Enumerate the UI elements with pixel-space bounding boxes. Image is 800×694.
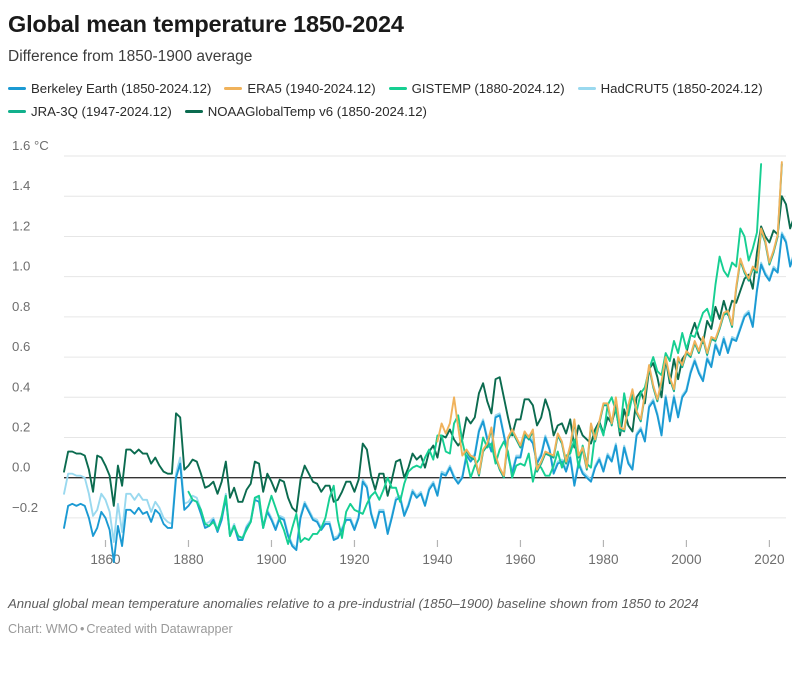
x-axis-tick-label: 2020	[754, 552, 785, 567]
legend-swatch-icon	[185, 110, 203, 113]
legend-swatch-icon	[578, 87, 596, 90]
y-axis-tick-label: 0.0	[12, 459, 30, 474]
legend-item-label: JRA-3Q (1947-2024.12)	[31, 104, 172, 119]
chart-subtitle: Difference from 1850-1900 average	[8, 39, 792, 67]
y-axis-tick-label: 0.6	[12, 339, 30, 354]
y-axis-tick-label: 0.4	[12, 379, 30, 394]
y-axis-tick-label: 0.8	[12, 299, 30, 314]
y-axis-tick-label: −0.2	[12, 500, 38, 515]
source-credit: Chart: WMO	[8, 622, 78, 636]
series-line-era5[interactable]	[437, 162, 781, 476]
y-axis-tick-label: 1.2	[12, 218, 30, 233]
x-axis-tick-label: 1860	[90, 552, 121, 567]
series-line-noaaglobaltemp-v6[interactable]	[64, 170, 792, 512]
y-axis-tick-label: 0.2	[12, 419, 30, 434]
legend-swatch-icon	[8, 110, 26, 113]
chart-page: Global mean temperature 1850-2024 Differ…	[0, 0, 800, 694]
legend-swatch-icon	[8, 87, 26, 90]
legend-item-era5[interactable]: ERA5 (1940-2024.12)	[224, 81, 375, 96]
legend-item-noaaglobaltemp-v6[interactable]: NOAAGlobalTemp v6 (1850-2024.12)	[185, 104, 427, 119]
x-axis-tick-label: 1980	[588, 552, 619, 567]
legend-item-label: GISTEMP (1880-2024.12)	[412, 81, 565, 96]
chart-footnote: Annual global mean temperature anomalies…	[8, 585, 783, 614]
x-axis-tick-label: 1960	[505, 552, 536, 567]
legend-item-hadcrut5[interactable]: HadCRUT5 (1850-2024.12)	[578, 81, 763, 96]
legend-item-label: HadCRUT5 (1850-2024.12)	[601, 81, 763, 96]
legend-item-label: Berkeley Earth (1850-2024.12)	[31, 81, 211, 96]
legend-swatch-icon	[389, 87, 407, 90]
legend-item-label: NOAAGlobalTemp v6 (1850-2024.12)	[208, 104, 427, 119]
legend-item-label: ERA5 (1940-2024.12)	[247, 81, 375, 96]
legend-item-jra-3q[interactable]: JRA-3Q (1947-2024.12)	[8, 104, 172, 119]
x-axis: 186018801900192019401960198020002020	[90, 540, 785, 567]
legend-swatch-icon	[224, 87, 242, 90]
legend-item-berkeley-earth[interactable]: Berkeley Earth (1850-2024.12)	[8, 81, 211, 96]
legend-item-gistemp[interactable]: GISTEMP (1880-2024.12)	[389, 81, 565, 96]
source-tool: Created with Datawrapper	[86, 622, 232, 636]
chart-source: Chart: WMO•Created with Datawrapper	[8, 613, 792, 636]
x-axis-tick-label: 1880	[173, 552, 204, 567]
line-chart-svg: −0.20.00.20.40.60.81.01.21.41.6 °C186018…	[8, 130, 792, 585]
chart-legend: Berkeley Earth (1850-2024.12)ERA5 (1940-…	[8, 66, 788, 123]
x-axis-tick-label: 2000	[671, 552, 702, 567]
x-axis-tick-label: 1920	[339, 552, 370, 567]
y-axis-tick-label: 1.6 °C	[12, 138, 49, 153]
x-axis-tick-label: 1900	[256, 552, 287, 567]
y-axis-tick-label: 1.0	[12, 258, 30, 273]
chart-plot-area: −0.20.00.20.40.60.81.01.21.41.6 °C186018…	[8, 130, 792, 585]
page-title: Global mean temperature 1850-2024	[8, 0, 792, 39]
x-axis-tick-label: 1940	[422, 552, 453, 567]
y-axis-tick-label: 1.4	[12, 178, 30, 193]
